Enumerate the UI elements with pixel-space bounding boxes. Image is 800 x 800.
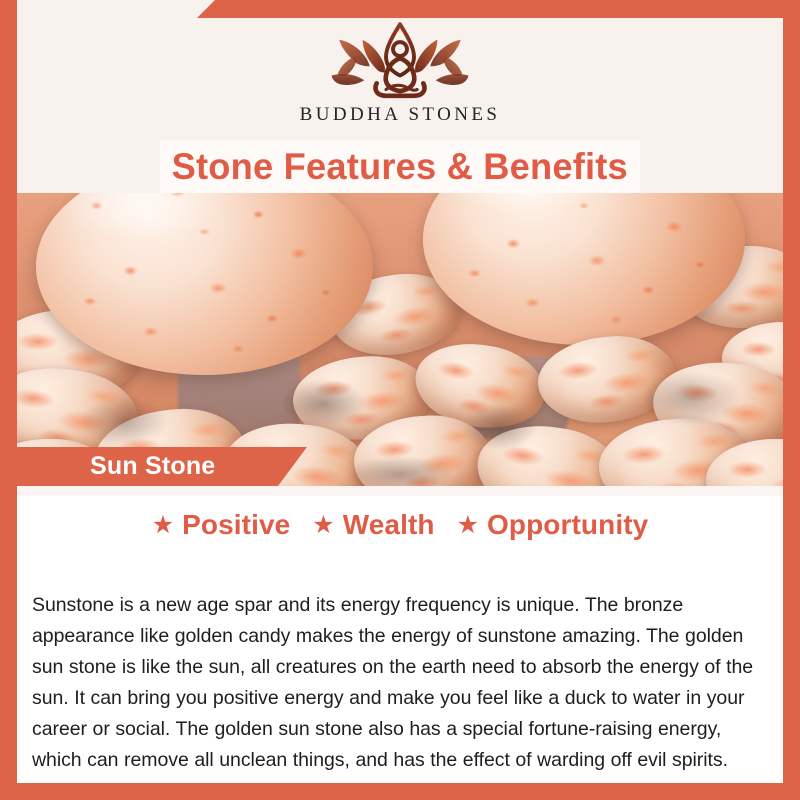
frame-left-bar — [0, 0, 17, 800]
lotus-meditation-figure-icon — [322, 18, 478, 102]
benefit-label: Positive — [182, 509, 290, 541]
brand-name: BUDDHA STONES — [300, 104, 501, 126]
stone-name-label: Sun Stone — [90, 452, 215, 481]
star-icon: ★ — [457, 513, 479, 538]
star-icon: ★ — [152, 513, 174, 538]
benefits-row: ★ Positive ★ Wealth ★ Opportunity — [17, 509, 783, 541]
description-panel: ★ Positive ★ Wealth ★ Opportunity Sunsto… — [17, 486, 783, 783]
stone-description: Sunstone is a new age spar and its energ… — [32, 590, 772, 776]
benefit-item-positive: ★ Positive — [141, 509, 302, 541]
stone-name-badge: Sun Stone — [17, 447, 307, 486]
brand-logo: BUDDHA STONES — [0, 18, 800, 126]
benefit-label: Wealth — [343, 509, 435, 541]
panel-top-strip — [17, 486, 783, 496]
benefit-item-opportunity: ★ Opportunity — [446, 509, 660, 541]
photo-shading — [17, 193, 783, 486]
star-icon: ★ — [312, 513, 334, 538]
frame-right-bar — [783, 0, 800, 800]
page-title-band: Stone Features & Benefits — [160, 140, 640, 193]
infographic-card: BUDDHA STONES Stone Features & Benefits — [0, 0, 800, 800]
product-photo — [17, 193, 783, 486]
page-title: Stone Features & Benefits — [172, 146, 628, 188]
benefit-item-wealth: ★ Wealth — [301, 509, 445, 541]
frame-top-left-fill — [0, 0, 220, 18]
benefit-label: Opportunity — [487, 509, 648, 541]
frame-bottom-bar — [0, 783, 800, 800]
